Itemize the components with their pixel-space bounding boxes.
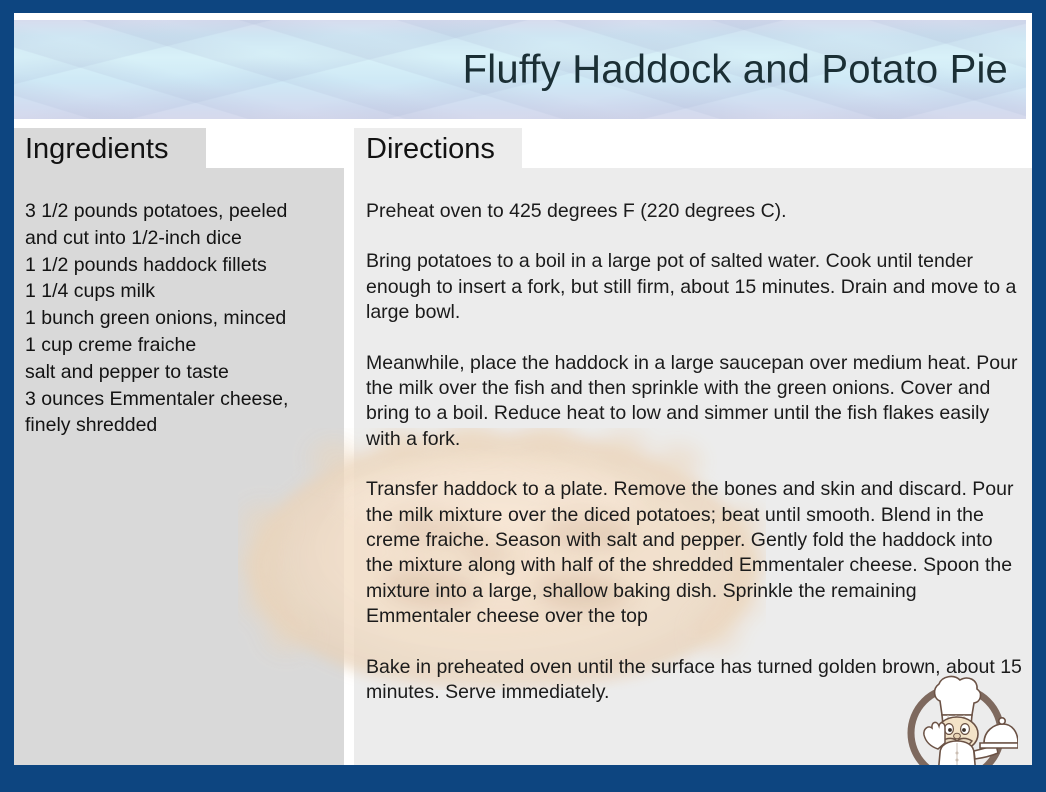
direction-step: Preheat oven to 425 degrees F (220 degre…: [366, 199, 1024, 224]
list-item: 1 1/2 pounds haddock fillets: [25, 252, 337, 279]
directions-heading-tab: Directions: [354, 128, 522, 171]
page-title: Fluffy Haddock and Potato Pie: [463, 47, 1008, 92]
direction-step: Bring potatoes to a boil in a large pot …: [366, 249, 1024, 325]
directions-steps: Preheat oven to 425 degrees F (220 degre…: [366, 199, 1024, 706]
recipe-slide: Fluffy Haddock and Potato Pie Ingredient…: [0, 0, 1046, 792]
list-item: 3 ounces Emmentaler cheese,: [25, 386, 337, 413]
direction-step: Transfer haddock to a plate. Remove the …: [366, 477, 1024, 629]
directions-heading-label: Directions: [366, 135, 495, 164]
list-item: and cut into 1/2-inch dice: [25, 225, 337, 252]
list-item: 1 cup creme fraiche: [25, 332, 337, 359]
list-item: finely shredded: [25, 412, 337, 439]
ingredients-heading-label: Ingredients: [25, 135, 169, 164]
title-banner: Fluffy Haddock and Potato Pie: [14, 20, 1026, 119]
ingredients-heading-tab: Ingredients: [14, 128, 206, 171]
direction-step: Meanwhile, place the haddock in a large …: [366, 351, 1024, 453]
chef-with-cloche-logo: [898, 671, 1018, 765]
list-item: 1 1/4 cups milk: [25, 278, 337, 305]
list-item: 3 1/2 pounds potatoes, peeled: [25, 198, 337, 225]
list-item: 1 bunch green onions, minced: [25, 305, 337, 332]
slide-page: Fluffy Haddock and Potato Pie Ingredient…: [14, 13, 1032, 765]
list-item: salt and pepper to taste: [25, 359, 337, 386]
ingredients-list: 3 1/2 pounds potatoes, peeled and cut in…: [25, 198, 337, 439]
